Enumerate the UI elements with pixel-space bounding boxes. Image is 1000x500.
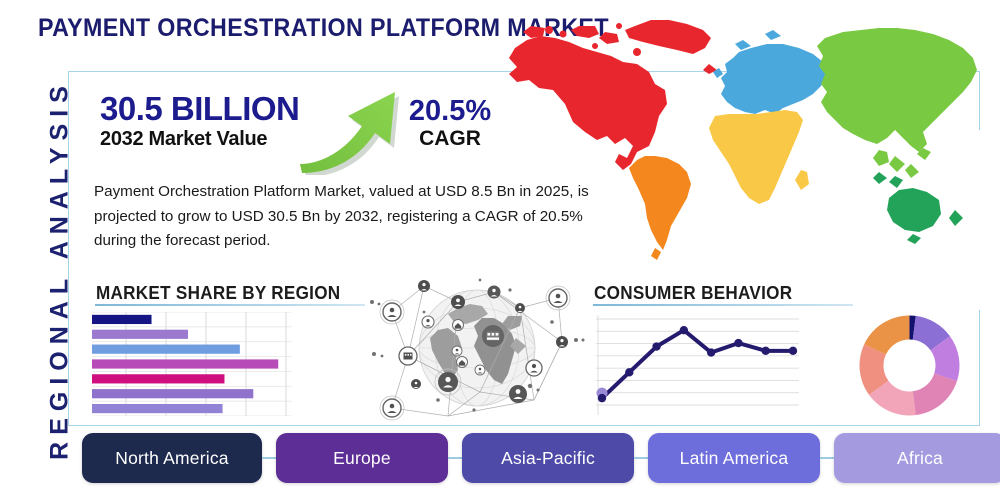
line-chart-point	[652, 342, 660, 350]
region-tab-north-america[interactable]: North America	[82, 433, 262, 483]
region-tab-label: Asia-Pacific	[501, 448, 595, 469]
bar-chart-bar	[92, 330, 188, 339]
line-chart-point	[598, 394, 606, 402]
tab-connector	[448, 457, 462, 459]
world-map-graphic	[487, 12, 992, 267]
vertical-section-label: REGIONAL ANALYSIS	[46, 70, 75, 470]
region-tab-label: Africa	[897, 448, 943, 469]
market-share-bar-chart	[92, 312, 292, 416]
line-chart-point	[707, 348, 715, 356]
bar-chart-bar	[92, 389, 253, 398]
panel-frame-edge-bottom	[979, 310, 981, 425]
region-tab-label: Latin America	[680, 448, 789, 469]
tab-connector	[262, 457, 276, 459]
region-tab-label: Europe	[333, 448, 391, 469]
region-tab-label: North America	[115, 448, 228, 469]
consumer-behavior-line-chart	[596, 311, 801, 417]
line-chart-point	[762, 347, 770, 355]
tab-connector	[634, 457, 648, 459]
bar-chart-bar	[92, 404, 223, 413]
tab-connector	[820, 457, 834, 459]
line-chart-point	[680, 326, 688, 334]
map-region-north-america	[509, 20, 717, 170]
region-tab-europe[interactable]: Europe	[276, 433, 448, 483]
donut-segment	[913, 374, 957, 416]
region-tabs-bar: North AmericaEuropeAsia-PacificLatin Ame…	[82, 433, 982, 483]
consumer-behavior-heading: CONSUMER BEHAVIOR	[594, 283, 792, 304]
bar-chart-bar	[92, 345, 240, 354]
line-chart-point	[789, 347, 797, 355]
map-region-asia	[817, 28, 977, 178]
line-chart-point	[734, 339, 742, 347]
region-tab-africa[interactable]: Africa	[834, 433, 1000, 483]
map-region-south-america	[629, 156, 691, 260]
global-network-globe-icon	[362, 272, 592, 430]
region-tab-asia-pacific[interactable]: Asia-Pacific	[462, 433, 634, 483]
bar-chart-bar	[92, 374, 224, 383]
consumer-behavior-donut-chart	[852, 308, 967, 423]
map-region-oceania	[873, 172, 963, 244]
bar-chart-bar	[92, 315, 152, 324]
line-chart-point	[625, 368, 633, 376]
consumer-behavior-heading-rule	[593, 304, 853, 306]
map-region-europe	[713, 30, 827, 114]
map-region-africa	[709, 110, 809, 204]
market-share-heading: MARKET SHARE BY REGION	[96, 283, 340, 304]
bar-chart-bar	[92, 359, 278, 368]
market-share-heading-rule	[95, 304, 365, 306]
region-tab-latin-america[interactable]: Latin America	[648, 433, 820, 483]
